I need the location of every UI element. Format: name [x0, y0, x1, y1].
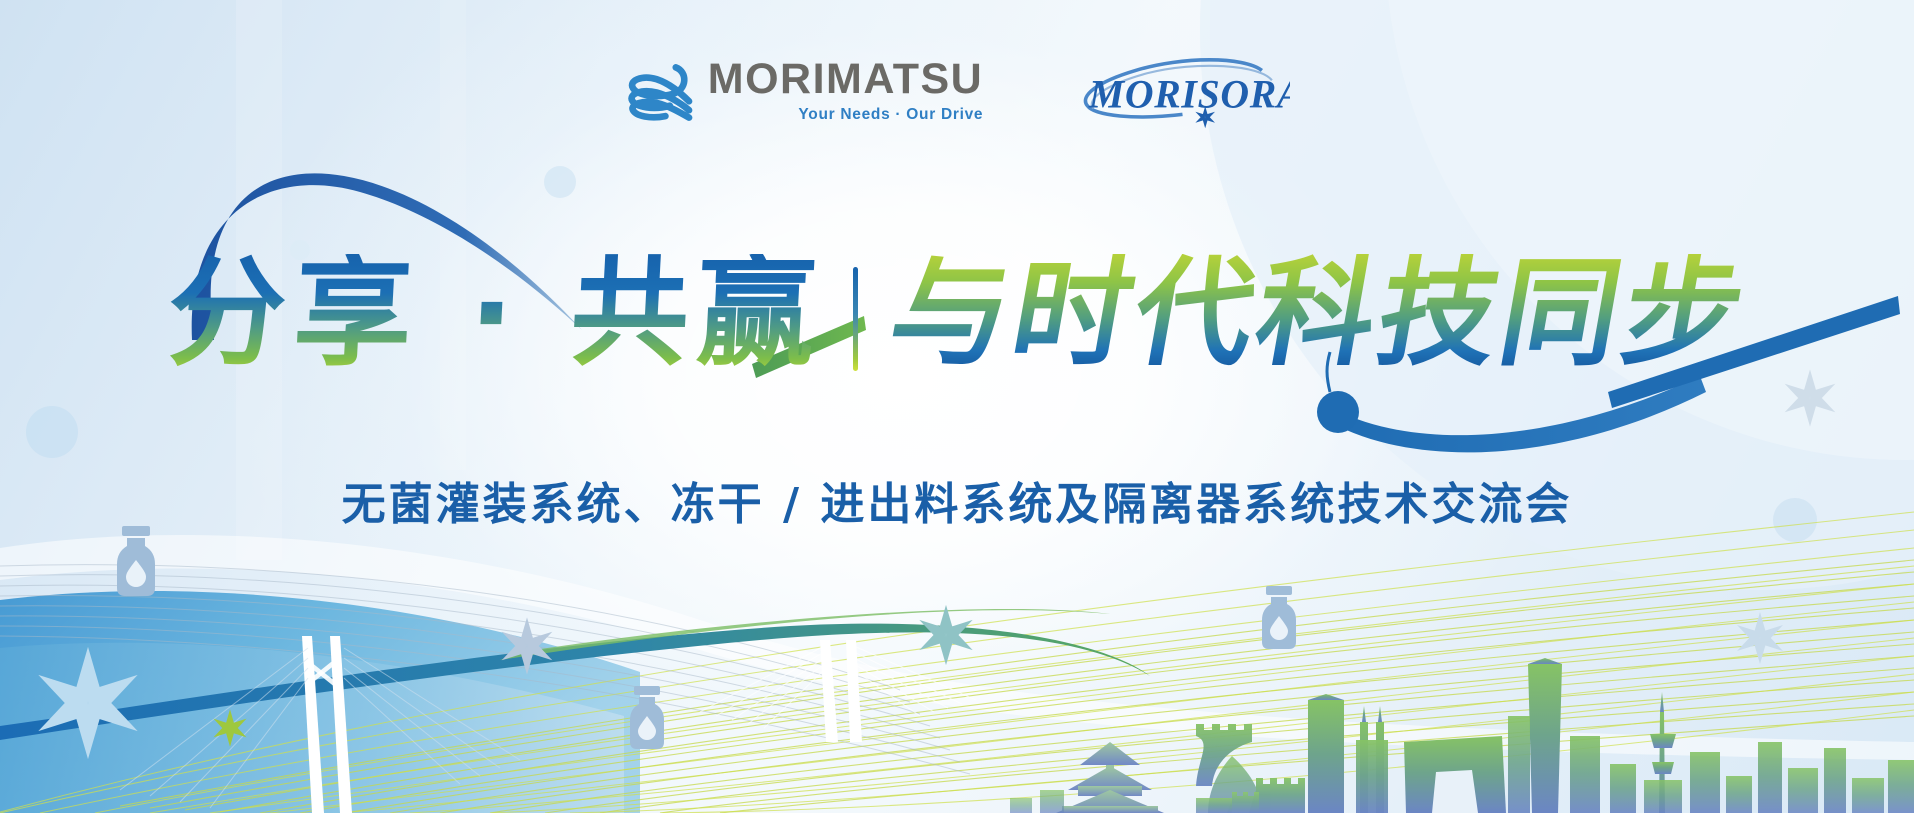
vial-icon-center [630, 686, 664, 749]
star-6-teal-mid-icon [919, 605, 972, 665]
temple-of-heaven-icon [1056, 742, 1164, 813]
morimatsu-tagline: Your Needs · Our Drive [708, 106, 983, 124]
grey-fan-lines [0, 565, 970, 774]
star-6-pale-right-icon [1737, 612, 1783, 664]
bridge-deck-band [0, 624, 1150, 740]
headline-divider [853, 267, 858, 371]
star-6-green-small-icon [213, 709, 246, 746]
star-6-light-blue-large-icon [38, 647, 137, 759]
event-banner: MORIMATSU Your Needs · Our Drive MORISOR… [0, 0, 1914, 813]
headline-left-text: 分享 · 共赢 [165, 254, 826, 372]
headline: 分享 · 共赢 与时代科技同步 [0, 238, 1914, 388]
swoosh-dot-icon [1317, 391, 1359, 433]
morimatsu-wordmark: MORIMATSU [708, 58, 983, 101]
event-subtitle: 无菌灌装系统、冻干 / 进出料系统及隔离器系统技术交流会 [0, 468, 1914, 532]
green-fan-lines-2 [0, 512, 1914, 813]
star-6-grey-blue-icon [502, 617, 553, 674]
tv-tower-icon [1644, 692, 1682, 813]
beijing-skyline-icon [1010, 658, 1914, 813]
cctv-headquarters-icon [1404, 736, 1506, 813]
morimatsu-rope-loops-mark-icon [624, 60, 698, 122]
green-fan-lines [120, 560, 1914, 813]
great-wall-icon [1196, 724, 1305, 813]
morisora-orbit-star-mark-icon: MORISORA [1075, 52, 1290, 130]
morisora-logo[interactable]: MORISORA [1075, 52, 1290, 130]
logo-row: MORIMATSU Your Needs · Our Drive MORISOR… [0, 52, 1914, 130]
blue-wave-left [0, 591, 640, 813]
vial-icon-right [1262, 586, 1296, 649]
china-zun-icon [1528, 664, 1562, 813]
headline-right-text: 与时代科技同步 [882, 254, 1757, 372]
morisora-wordmark: MORISORA [1088, 72, 1290, 116]
morimatsu-logo[interactable]: MORIMATSU Your Needs · Our Drive [624, 58, 983, 124]
vial-icon-left [117, 526, 155, 596]
tower-a [1308, 700, 1344, 813]
cable-stayed-bridge-icon [120, 636, 976, 813]
